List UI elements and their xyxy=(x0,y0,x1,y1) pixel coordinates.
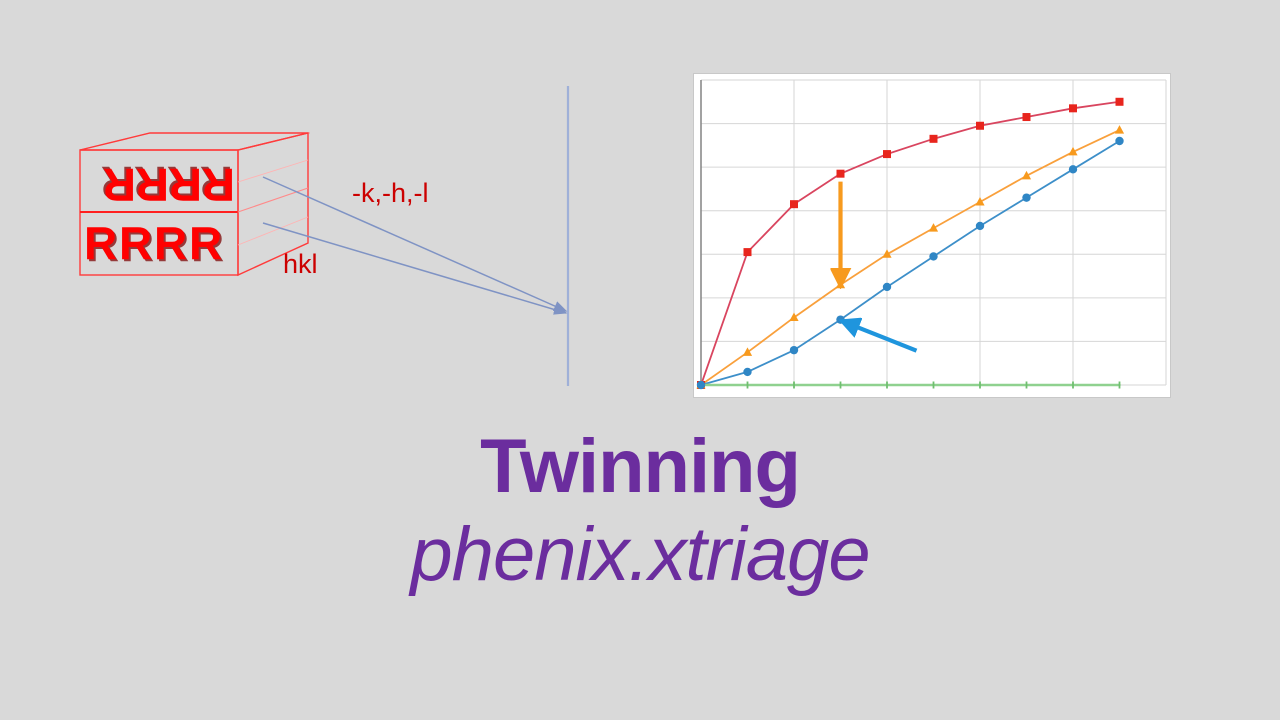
page-title: Twinning xyxy=(0,425,1280,509)
plot-background xyxy=(694,74,1170,397)
reflection-label-original: hkl xyxy=(283,249,318,280)
crystal-twin-diagram: R R R R R R R R R R R xyxy=(60,125,390,310)
slide-canvas: R R R R R R R R R R R xyxy=(0,0,1280,720)
reflection-label-twin: -k,-h,-l xyxy=(352,178,429,209)
bottom-domain-letters: R R R R R R R R xyxy=(84,217,224,271)
chart-plot-area xyxy=(694,74,1170,397)
svg-text:R: R xyxy=(84,217,117,269)
svg-text:R: R xyxy=(154,217,187,269)
page-subtitle: phenix.xtriage xyxy=(0,509,1280,601)
svg-text:R: R xyxy=(119,217,152,269)
svg-text:R: R xyxy=(103,159,136,211)
svg-text:R: R xyxy=(169,159,202,211)
top-domain-letters: R R R R R R R R xyxy=(101,157,235,211)
svg-text:R: R xyxy=(202,159,235,211)
svg-text:R: R xyxy=(136,159,169,211)
cumulative-intensity-chart[interactable] xyxy=(693,73,1171,398)
title-block: Twinning phenix.xtriage xyxy=(0,425,1280,601)
svg-text:R: R xyxy=(189,217,222,269)
